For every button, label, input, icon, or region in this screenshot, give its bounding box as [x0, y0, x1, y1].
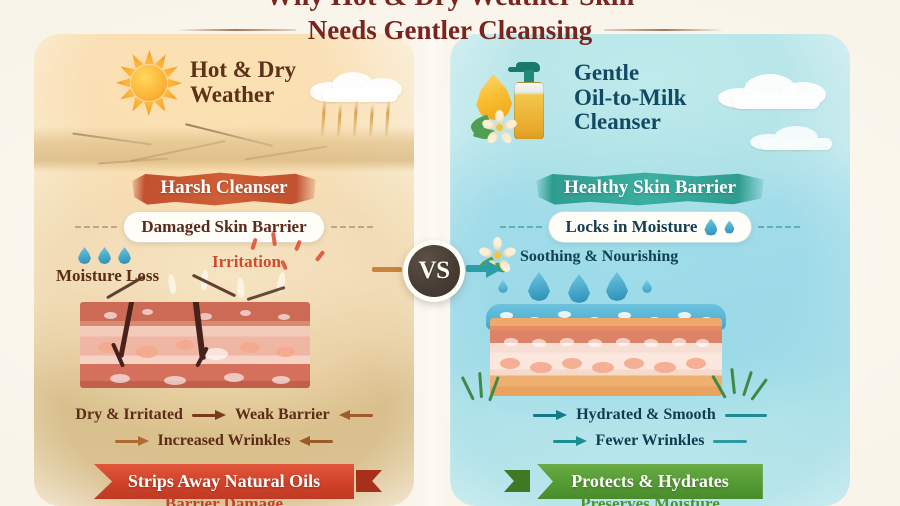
right-pill: Locks in Moisture [548, 211, 753, 243]
right-brush-label: Healthy Skin Barrier [564, 177, 736, 198]
left-outcome-row-2: Increased Wrinkles [34, 432, 414, 450]
soothing-label: Soothing & Nourishing [520, 248, 678, 266]
vs-label: VS [419, 257, 450, 285]
grass-icon [722, 368, 756, 398]
arrow-into-vs-icon [372, 263, 402, 275]
right-sub-ribbon: Preserves Moisture [450, 494, 850, 506]
water-drop-icon [724, 221, 734, 234]
arrow-right-icon [115, 436, 149, 447]
vs-badge: VS [403, 240, 465, 302]
left-outcome-row-1: Dry & Irritated Weak Barrier [34, 406, 414, 424]
left-pill-label: Damaged Skin Barrier [141, 217, 306, 237]
sun-icon [118, 52, 180, 114]
left-outcome-2: Increased Wrinkles [158, 432, 291, 450]
right-outcome-1: Hydrated & Smooth [576, 406, 716, 424]
left-header-text: Hot & Dry Weather [190, 58, 296, 108]
right-outcome-row-2: Fewer Wrinkles [450, 432, 850, 450]
left-header-line-1: Hot & Dry [190, 58, 296, 83]
flower-icon [486, 114, 512, 140]
right-header-text: Gentle Oil-to-Milk Cleanser [574, 61, 686, 135]
dashed-connector [500, 226, 542, 228]
right-header: Gentle Oil-to-Milk Cleanser [450, 52, 850, 144]
infographic-canvas: Why Hot & Dry Weather Skin Needs Gentler… [0, 0, 900, 506]
dashed-connector [75, 226, 117, 228]
left-pill: Damaged Skin Barrier [123, 211, 324, 243]
left-brush-banner: Harsh Cleanser [34, 172, 414, 206]
title-rule-right [604, 29, 724, 31]
left-panel: Hot & Dry Weather Harsh Cleanser [34, 34, 414, 506]
left-header-line-2: Weather [190, 83, 296, 108]
water-drop-icon [606, 272, 628, 301]
left-outcome-1-right: Weak Barrier [235, 406, 330, 424]
title-block: Why Hot & Dry Weather Skin Needs Gentler… [0, 0, 900, 46]
title-rule-left [176, 29, 296, 31]
pump-bottle-icon [506, 58, 552, 142]
water-drop-icon [98, 247, 111, 264]
irritation-label: Irritation [212, 252, 281, 272]
right-header-line-2: Oil-to-Milk [574, 86, 686, 111]
arrow-right-icon [553, 436, 587, 447]
right-brush-banner: Healthy Skin Barrier [450, 172, 850, 206]
water-drop-icon [704, 219, 717, 236]
soothing-group: Soothing & Nourishing [480, 242, 678, 272]
water-drop-icon [568, 274, 590, 303]
left-ribbon-label: Strips Away Natural Oils [128, 471, 320, 491]
water-drop-icon [642, 280, 652, 293]
left-brush-label: Harsh Cleanser [160, 177, 287, 198]
left-header: Hot & Dry Weather [34, 52, 414, 114]
irritation-group: Irritation [212, 252, 281, 272]
healthy-skin-cross-section [490, 318, 722, 396]
product-icon-group [470, 52, 562, 144]
left-outcome-1-left: Dry & Irritated [75, 406, 183, 424]
moisture-loss-label: Moisture Loss [56, 266, 159, 286]
dashed-connector [758, 226, 800, 228]
right-ribbon-label: Protects & Hydrates [571, 471, 729, 491]
right-outcome-row-1: Hydrated & Smooth [450, 406, 850, 424]
right-pill-row: Locks in Moisture [450, 211, 850, 243]
cracked-ground-strip [34, 126, 414, 172]
dashed-connector [331, 226, 373, 228]
right-header-line-1: Gentle [574, 61, 686, 86]
rule-icon [713, 440, 747, 443]
grass-icon [468, 372, 498, 400]
water-drop-icon [528, 272, 550, 301]
right-pill-label: Locks in Moisture [566, 217, 698, 237]
left-pill-row: Damaged Skin Barrier [34, 211, 414, 243]
water-drop-icon [78, 247, 91, 264]
damaged-skin-cross-section [80, 302, 310, 388]
arrow-left-icon [339, 410, 373, 421]
moisture-loss-group: Moisture Loss [56, 247, 159, 286]
title-line-2: Needs Gentler Cleansing [308, 14, 593, 46]
water-drop-icon [498, 280, 508, 293]
water-drop-icon [118, 247, 131, 264]
arrow-left-icon [299, 436, 333, 447]
left-sub-ribbon: Barrier Damage [34, 494, 414, 506]
arrow-right-icon [192, 410, 226, 421]
arrow-right-icon [533, 410, 567, 421]
right-outcome-2: Fewer Wrinkles [596, 432, 705, 450]
right-panel: Gentle Oil-to-Milk Cleanser Healthy Skin… [450, 34, 850, 506]
title-line-1: Why Hot & Dry Weather Skin [0, 0, 900, 12]
rule-icon [725, 414, 767, 417]
right-header-line-3: Cleanser [574, 110, 686, 135]
arrow-out-of-vs-icon [466, 260, 502, 278]
